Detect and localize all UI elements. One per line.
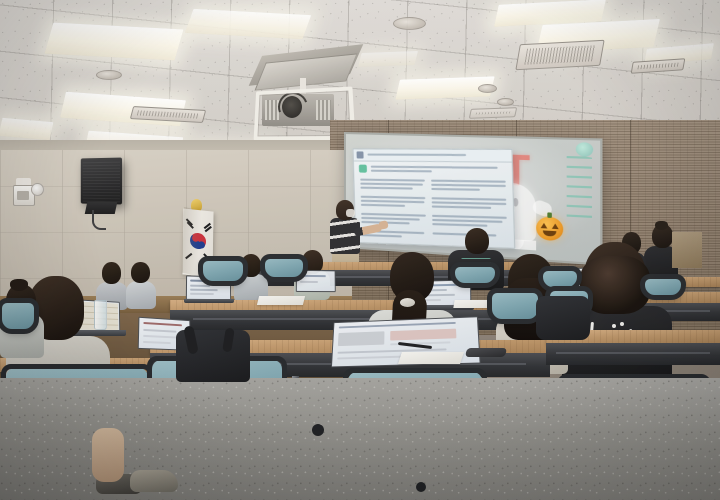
hair-bun: [655, 221, 668, 230]
ui-line: [143, 322, 182, 326]
document-text-line: [431, 184, 506, 187]
pumpkin-stem: [547, 212, 552, 218]
document-text-line: [360, 187, 412, 190]
document-text-line: [360, 183, 423, 186]
document-text-line: [371, 170, 432, 173]
document-text-line: [431, 180, 506, 183]
smoke-detector-icon: [497, 98, 514, 106]
ui-line: [190, 293, 214, 295]
chair-caster: [416, 482, 426, 492]
paper-notebook: [257, 296, 305, 305]
chair-frame: [640, 274, 686, 300]
script-dot: [612, 324, 616, 328]
shoe: [130, 470, 178, 492]
chair[interactable]: [490, 290, 542, 324]
ui-line: [143, 329, 176, 333]
paper-sheet: [398, 352, 464, 364]
document-text-line: [361, 196, 426, 199]
document-text-line: [431, 188, 480, 191]
pumpkin-eye-right: [552, 223, 559, 229]
person-head: [131, 262, 150, 283]
backpack-right: [536, 296, 590, 340]
chair-caster: [312, 424, 324, 436]
ui-line: [390, 329, 456, 341]
pencil-case: [465, 348, 507, 357]
chair[interactable]: [200, 258, 246, 286]
presenter-torso-striped-shirt: [330, 218, 360, 254]
lecture-hall-photo: PT: [0, 0, 720, 500]
wall-panel-cover: [16, 178, 31, 185]
document-header-bar: [354, 149, 512, 162]
pumpkin-eye-left: [541, 223, 548, 229]
speaker-cable: [92, 210, 106, 230]
air-vent: [469, 107, 517, 119]
person-leg: [92, 428, 124, 482]
desk-front-panel: [546, 343, 720, 365]
control-panel-screen: [17, 191, 29, 200]
chair-frame: [487, 288, 543, 324]
document-text-line: [371, 166, 498, 169]
document-app-icon: [357, 151, 364, 158]
hair-scrunchie: [400, 298, 415, 307]
script-dot: [620, 322, 624, 326]
document-text-line: [432, 201, 507, 205]
chair[interactable]: [0, 300, 38, 334]
ceiling-light-panel: [358, 51, 418, 67]
hair-bun: [10, 279, 28, 291]
ui-line: [143, 341, 171, 344]
document-text-line: [360, 179, 425, 182]
wall-sensor-icon: [31, 183, 44, 196]
ui-line: [190, 289, 218, 291]
student-back-left-d: [126, 262, 156, 306]
chair[interactable]: [262, 256, 306, 282]
slide-decor-orb: [576, 142, 593, 157]
document-status-chip: [359, 165, 367, 173]
chair[interactable]: [452, 264, 498, 288]
document-text-line: [432, 223, 487, 227]
chair-frame: [450, 262, 500, 288]
laptop-base: [184, 299, 234, 303]
ui-line: [338, 331, 385, 346]
smoke-detector-icon: [96, 70, 122, 80]
ui-line: [339, 322, 456, 328]
smoke-detector-icon: [393, 17, 426, 30]
person-head: [465, 228, 489, 254]
chair-frame: [0, 298, 39, 334]
speaker-grille: [83, 160, 120, 203]
face-mask-icon: [346, 209, 355, 217]
person-torso: [126, 281, 156, 309]
chair-frame: [198, 256, 248, 286]
wall-speaker: [81, 158, 122, 205]
desk-divider-panel: [672, 232, 702, 268]
chair-frame: [260, 254, 308, 282]
pumpkin-mouth: [543, 230, 557, 236]
smoke-detector-icon: [478, 84, 497, 93]
chair[interactable]: [642, 276, 684, 300]
air-conditioner-cassette: [515, 40, 604, 70]
slide-chevron-decor: [567, 153, 592, 224]
document-text-line: [432, 205, 491, 208]
document-text-line: [432, 197, 507, 201]
document-title-line: [367, 154, 466, 157]
